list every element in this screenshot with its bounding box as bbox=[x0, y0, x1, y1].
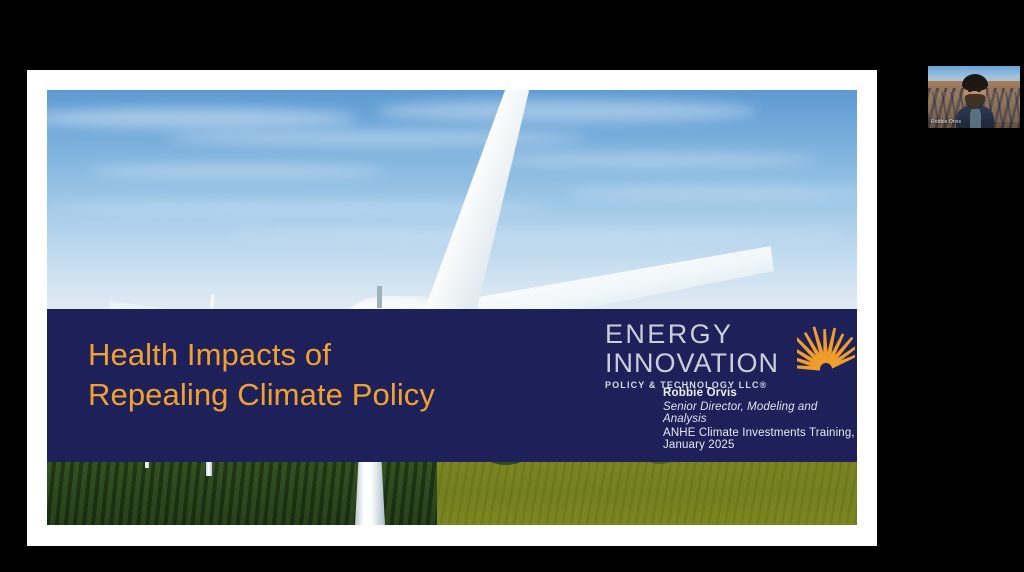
title-band: Health Impacts of Repealing Climate Poli… bbox=[47, 309, 857, 462]
participant-eyebrow bbox=[967, 87, 973, 89]
sunburst-icon bbox=[797, 319, 855, 375]
slide-frame: Health Impacts of Repealing Climate Poli… bbox=[27, 70, 877, 546]
participant-eye bbox=[968, 90, 972, 92]
presentation-viewer: Health Impacts of Repealing Climate Poli… bbox=[0, 0, 1024, 572]
turbine-mast bbox=[377, 286, 382, 308]
participant-hair bbox=[962, 74, 988, 91]
event-subtitle: ANHE Climate Investments Training, Janua… bbox=[663, 427, 857, 451]
logo-wordmark: ENERGY INNOVATION POLICY & TECHNOLOGY LL… bbox=[605, 321, 845, 390]
page-title: Health Impacts of Repealing Climate Poli… bbox=[88, 335, 435, 416]
participant-eye bbox=[977, 90, 981, 92]
speaker-role: Senior Director, Modeling and Analysis bbox=[663, 401, 857, 425]
participant-name-label: Robbie Orvis bbox=[931, 119, 961, 125]
participant-avatar bbox=[958, 74, 992, 128]
participant-eyebrow bbox=[976, 87, 982, 89]
slide-canvas: Health Impacts of Repealing Climate Poli… bbox=[47, 90, 857, 525]
energy-innovation-logo: ENERGY INNOVATION POLICY & TECHNOLOGY LL… bbox=[605, 321, 845, 390]
participant-shirt bbox=[970, 108, 981, 128]
speaker-name: Robbie Orvis bbox=[663, 387, 737, 399]
participant-video-tile[interactable]: Robbie Orvis bbox=[928, 66, 1020, 128]
